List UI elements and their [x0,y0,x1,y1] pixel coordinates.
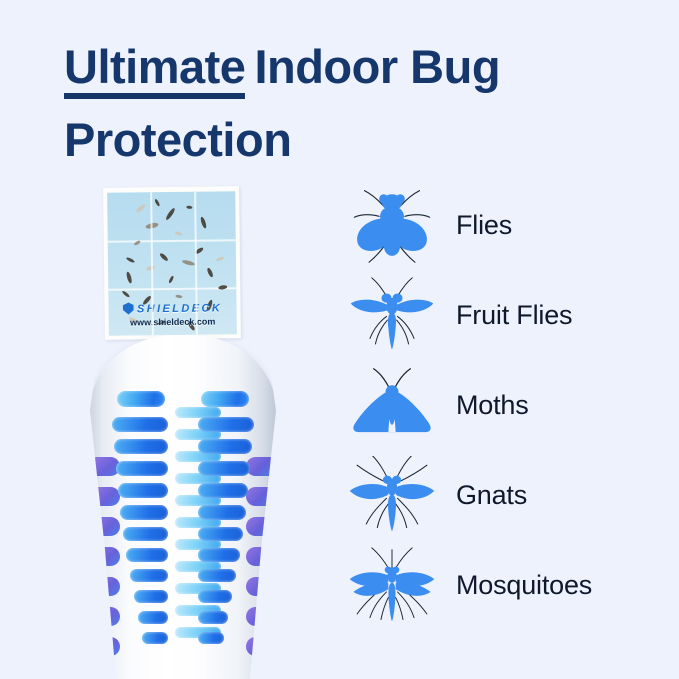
headline-line-1-rest: Indoor Bug [245,36,500,99]
brand-url: www.shieldeck.com [109,316,237,328]
list-item-label: Flies [456,210,512,241]
moth-icon [344,365,440,445]
brand-logo: SHIELDECK [108,301,236,316]
gnat-icon [344,455,440,535]
target-pest-list: Flies [344,180,674,630]
shield-icon [123,302,134,314]
list-item: Fruit Flies [344,270,674,360]
list-item: Moths [344,360,674,450]
glue-board-surface: SHIELDECK www.shieldeck.com [107,191,237,336]
mosquito-icon [344,545,440,625]
list-item-label: Fruit Flies [456,300,572,331]
device-shell [90,335,276,679]
fruit-fly-icon [344,275,440,355]
glue-board: SHIELDECK www.shieldeck.com [103,186,241,340]
brand-name: SHIELDECK [137,302,222,315]
list-item: Mosquitoes [344,540,674,630]
list-item: Flies [344,180,674,270]
headline-line-1: UltimateIndoor Bug [64,36,624,99]
headline-emphasis: Ultimate [64,43,245,99]
headline-line-2: Protection [64,109,624,172]
bug-zapper-device [78,335,288,679]
list-item: Gnats [344,450,674,540]
product-photo: SHIELDECK www.shieldeck.com [0,175,330,679]
fly-icon [344,185,440,265]
infographic-page: UltimateIndoor Bug Protection [0,0,679,679]
page-title: UltimateIndoor Bug Protection [64,36,624,172]
list-item-label: Gnats [456,480,527,511]
list-item-label: Mosquitoes [456,570,592,601]
list-item-label: Moths [456,390,529,421]
